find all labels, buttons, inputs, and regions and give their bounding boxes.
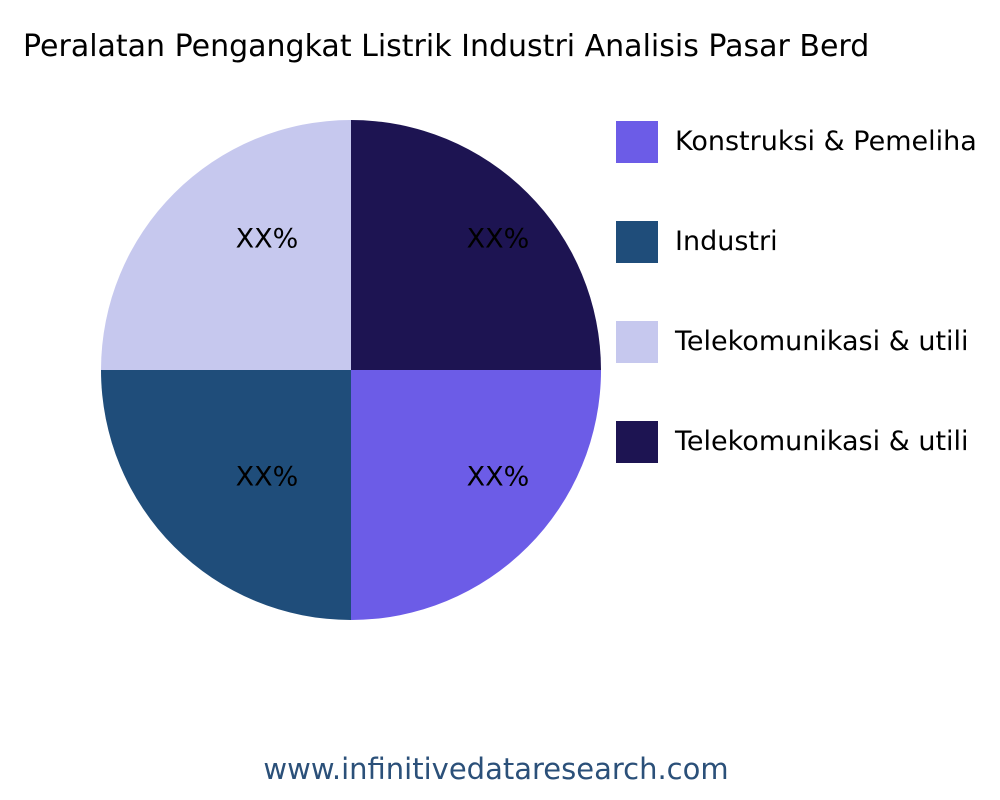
pie-slice-bottom-left[interactable] xyxy=(101,370,351,620)
pie-slice-value-bottom-left: XX% xyxy=(236,462,299,493)
source-website-url[interactable]: www.infinitivedataresearch.com xyxy=(0,752,1000,786)
legend-item-label: Industri xyxy=(675,221,778,263)
legend-item-label: Telekomunikasi & utili xyxy=(675,321,969,363)
pie-slice-value-top-left: XX% xyxy=(236,224,299,255)
legend-item[interactable]: Konstruksi & Pemeliha xyxy=(616,121,1000,163)
page-title: Peralatan Pengangkat Listrik Industri An… xyxy=(23,28,1000,66)
legend-swatch-icon xyxy=(616,421,658,463)
legend-swatch-icon xyxy=(616,121,658,163)
legend-item-label: Telekomunikasi & utili xyxy=(675,421,969,463)
pie-slice-value-top-right: XX% xyxy=(467,224,530,255)
legend-swatch-icon xyxy=(616,321,658,363)
legend-item[interactable]: Telekomunikasi & utili xyxy=(616,421,1000,463)
pie-slice-bottom-right[interactable] xyxy=(351,370,601,620)
chart-legend: Konstruksi & Pemeliha Industri Telekomun… xyxy=(616,121,1000,521)
legend-item[interactable]: Industri xyxy=(616,221,1000,263)
legend-item-label: Konstruksi & Pemeliha xyxy=(675,121,977,163)
pie-slice-value-bottom-right: XX% xyxy=(467,462,530,493)
legend-item[interactable]: Telekomunikasi & utili xyxy=(616,321,1000,363)
pie-chart-svg: XX% XX% XX% XX% xyxy=(101,120,601,620)
legend-swatch-icon xyxy=(616,221,658,263)
pie-slice-top-left[interactable] xyxy=(101,120,351,370)
pie-chart: XX% XX% XX% XX% xyxy=(101,120,601,620)
